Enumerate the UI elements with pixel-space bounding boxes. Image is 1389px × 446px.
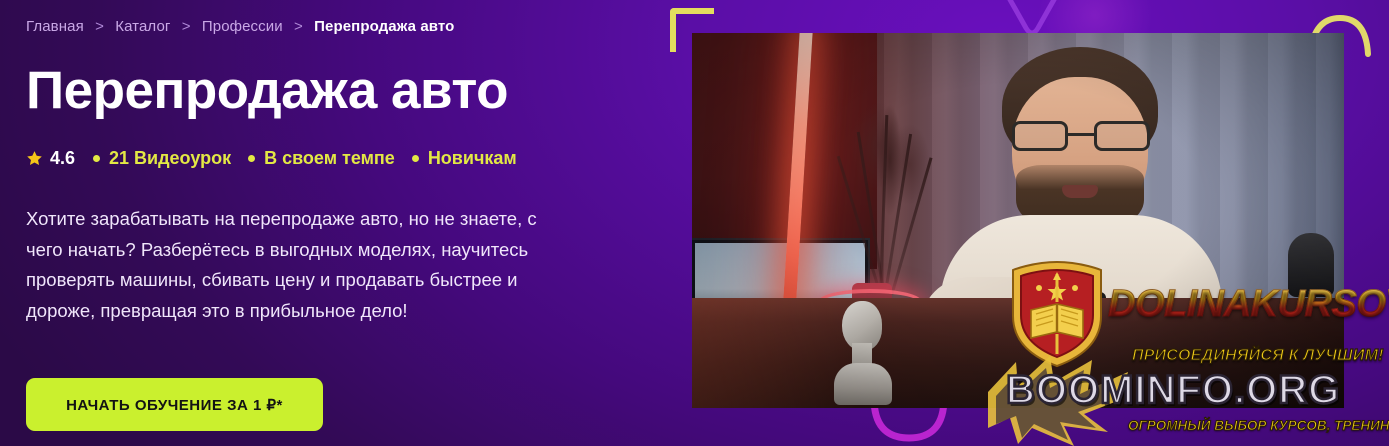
bullet-dot-icon bbox=[248, 155, 255, 162]
breadcrumb-separator: > bbox=[294, 18, 303, 35]
start-learning-button[interactable]: НАЧАТЬ ОБУЧЕНИЕ ЗА 1 ₽* bbox=[26, 378, 323, 431]
course-description: Хотите зарабатывать на перепродаже авто,… bbox=[26, 204, 548, 326]
page-title: Перепродажа авто bbox=[26, 62, 508, 120]
star-icon bbox=[26, 150, 43, 167]
breadcrumb: Главная > Каталог > Профессии > Перепрод… bbox=[26, 17, 454, 36]
breadcrumb-item-professions[interactable]: Профессии bbox=[202, 18, 283, 35]
bullet-dot-icon bbox=[93, 155, 100, 162]
breadcrumb-item-home[interactable]: Главная bbox=[26, 18, 84, 35]
breadcrumb-item-current: Перепродажа авто bbox=[314, 18, 454, 35]
rating-value: 4.6 bbox=[50, 148, 75, 169]
page-root: Главная > Каталог > Профессии > Перепрод… bbox=[0, 0, 1389, 446]
meta-label-pace: В своем темпе bbox=[264, 148, 395, 169]
bullet-dot-icon bbox=[412, 155, 419, 162]
meta-label-lessons: 21 Видеоурок bbox=[109, 148, 231, 169]
corner-bracket-icon bbox=[670, 8, 714, 52]
meta-label-level: Новичкам bbox=[428, 148, 517, 169]
hero-left-column: Главная > Каталог > Профессии > Перепрод… bbox=[26, 0, 666, 446]
course-meta-row: 4.6 21 Видеоурок В своем темпе Новичкам bbox=[26, 145, 517, 171]
rating-group: 4.6 bbox=[26, 148, 75, 169]
watermark-boominfo-tagline: ОГРОМНЫЙ ВЫБОР КУРСОВ, ТРЕНИНГОВ, КНИГ bbox=[1128, 418, 1389, 433]
watermark-dolinakursov-text: DOLINAKURSOV bbox=[1108, 283, 1389, 326]
breadcrumb-separator: > bbox=[182, 18, 191, 35]
watermark-boominfo-text: BOOMINFO.ORG bbox=[1006, 368, 1340, 413]
meta-item-level: Новичкам bbox=[412, 148, 517, 169]
breadcrumb-separator: > bbox=[95, 18, 104, 35]
meta-item-pace: В своем темпе bbox=[248, 148, 395, 169]
breadcrumb-item-catalog[interactable]: Каталог bbox=[115, 18, 170, 35]
meta-item-lessons: 21 Видеоурок bbox=[93, 148, 231, 169]
